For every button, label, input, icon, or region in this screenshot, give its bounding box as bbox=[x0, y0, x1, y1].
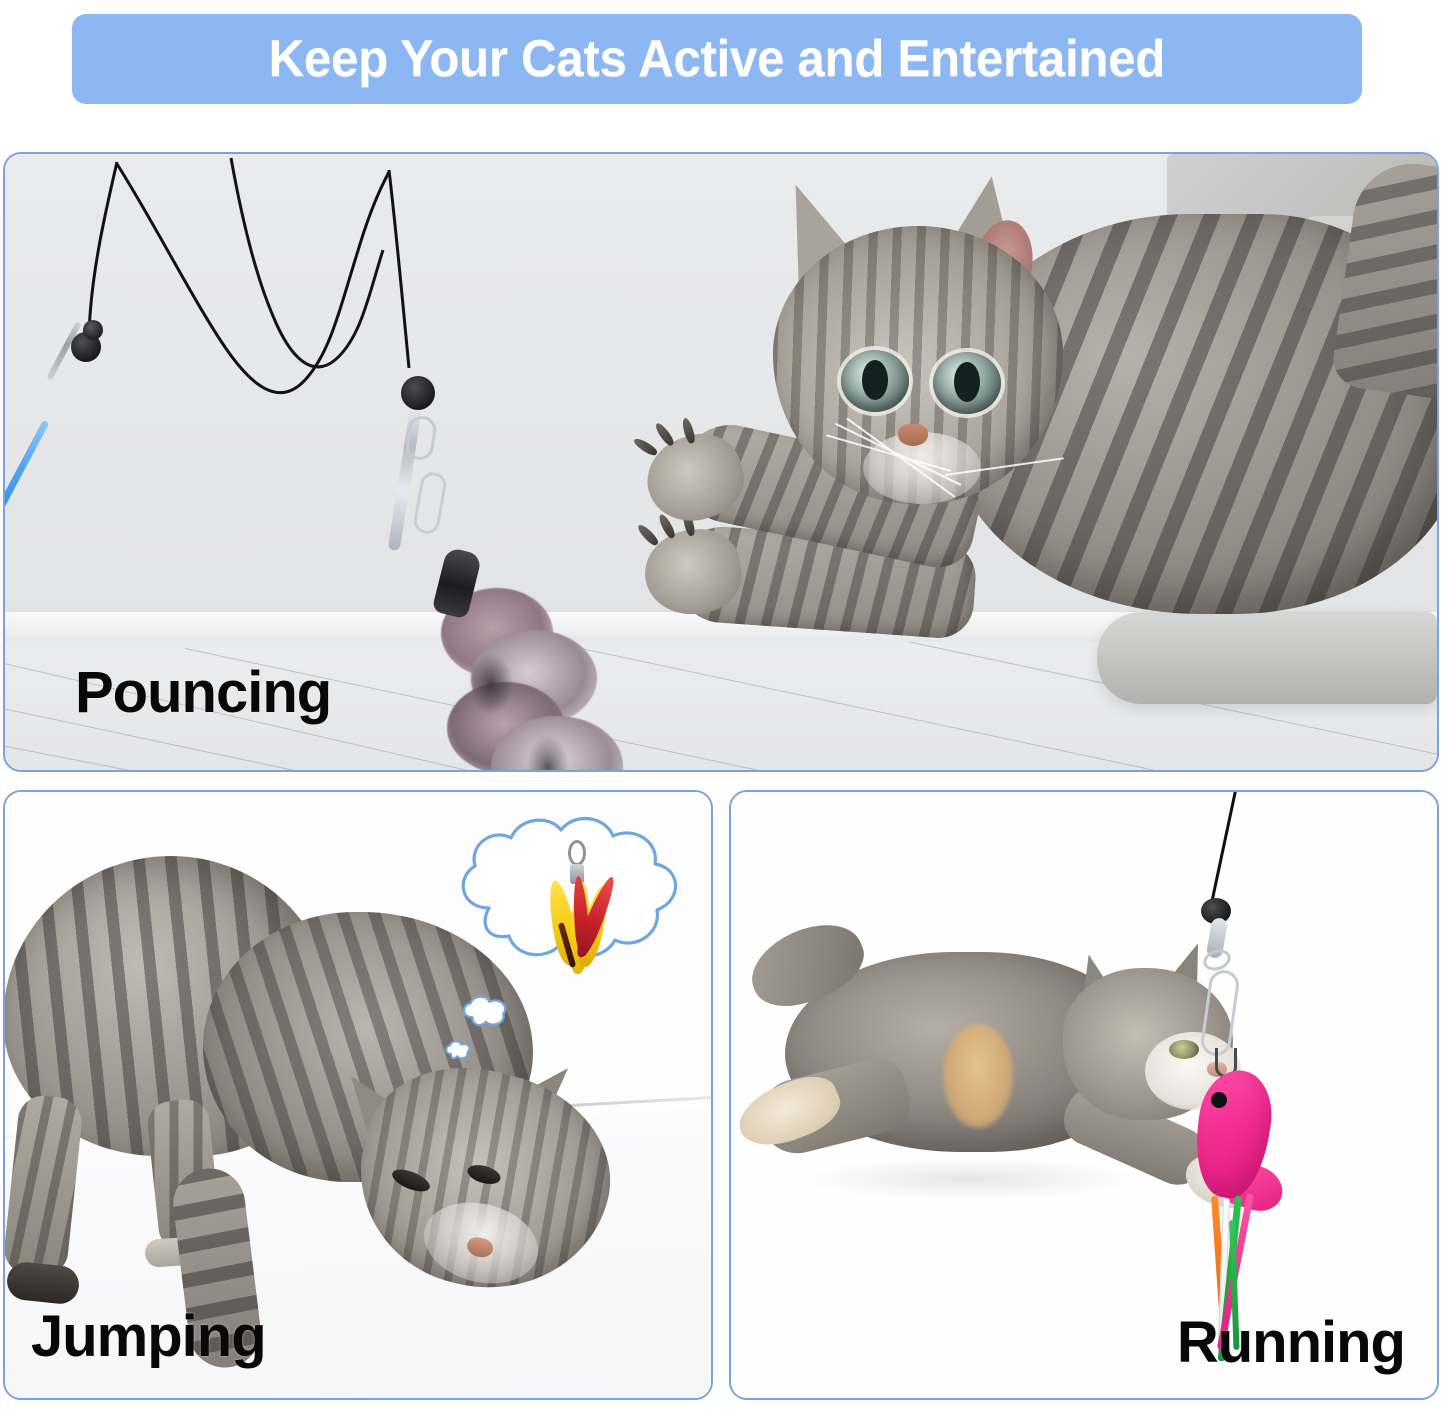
jumping-cat-hind-leg-left bbox=[3, 1093, 84, 1279]
feather-toy-ring bbox=[568, 840, 586, 866]
running-kitten-shadow bbox=[805, 1158, 1135, 1200]
elastic-string-icon bbox=[5, 154, 1439, 474]
thought-bubble-tiny bbox=[443, 1040, 473, 1060]
panel-jumping: Jumping bbox=[3, 790, 713, 1400]
caption-pouncing: Pouncing bbox=[75, 664, 331, 722]
running-kitten-cream-patch bbox=[943, 1024, 1013, 1128]
swivel-clip-icon bbox=[1199, 968, 1241, 1057]
thought-bubble-small bbox=[457, 994, 517, 1028]
feather-boa-toy-icon bbox=[435, 584, 665, 772]
pink-fish-toy-icon bbox=[1189, 1070, 1281, 1228]
thought-bubble-group bbox=[445, 812, 695, 1072]
hanging-string-icon bbox=[1208, 790, 1238, 912]
swivel-ring bbox=[1201, 946, 1234, 974]
wand-string-knot-secondary bbox=[83, 320, 103, 340]
banner-title: Keep Your Cats Active and Entertained bbox=[269, 33, 1165, 85]
panel-pouncing: Pouncing bbox=[3, 152, 1439, 772]
header-banner: Keep Your Cats Active and Entertained bbox=[72, 14, 1362, 104]
imagined-feather-toy-icon bbox=[540, 840, 620, 990]
swivel-clip-icon bbox=[401, 376, 435, 410]
product-feature-image: Keep Your Cats Active and Entertained bbox=[0, 0, 1445, 1413]
fish-toy-rig bbox=[1139, 790, 1349, 1346]
jumping-cat-hind-paw-left bbox=[5, 1260, 81, 1305]
caption-running: Running bbox=[1177, 1314, 1405, 1372]
fish-eye bbox=[1211, 1092, 1227, 1108]
caption-jumping: Jumping bbox=[31, 1308, 266, 1366]
panel-running: Running bbox=[729, 790, 1439, 1400]
